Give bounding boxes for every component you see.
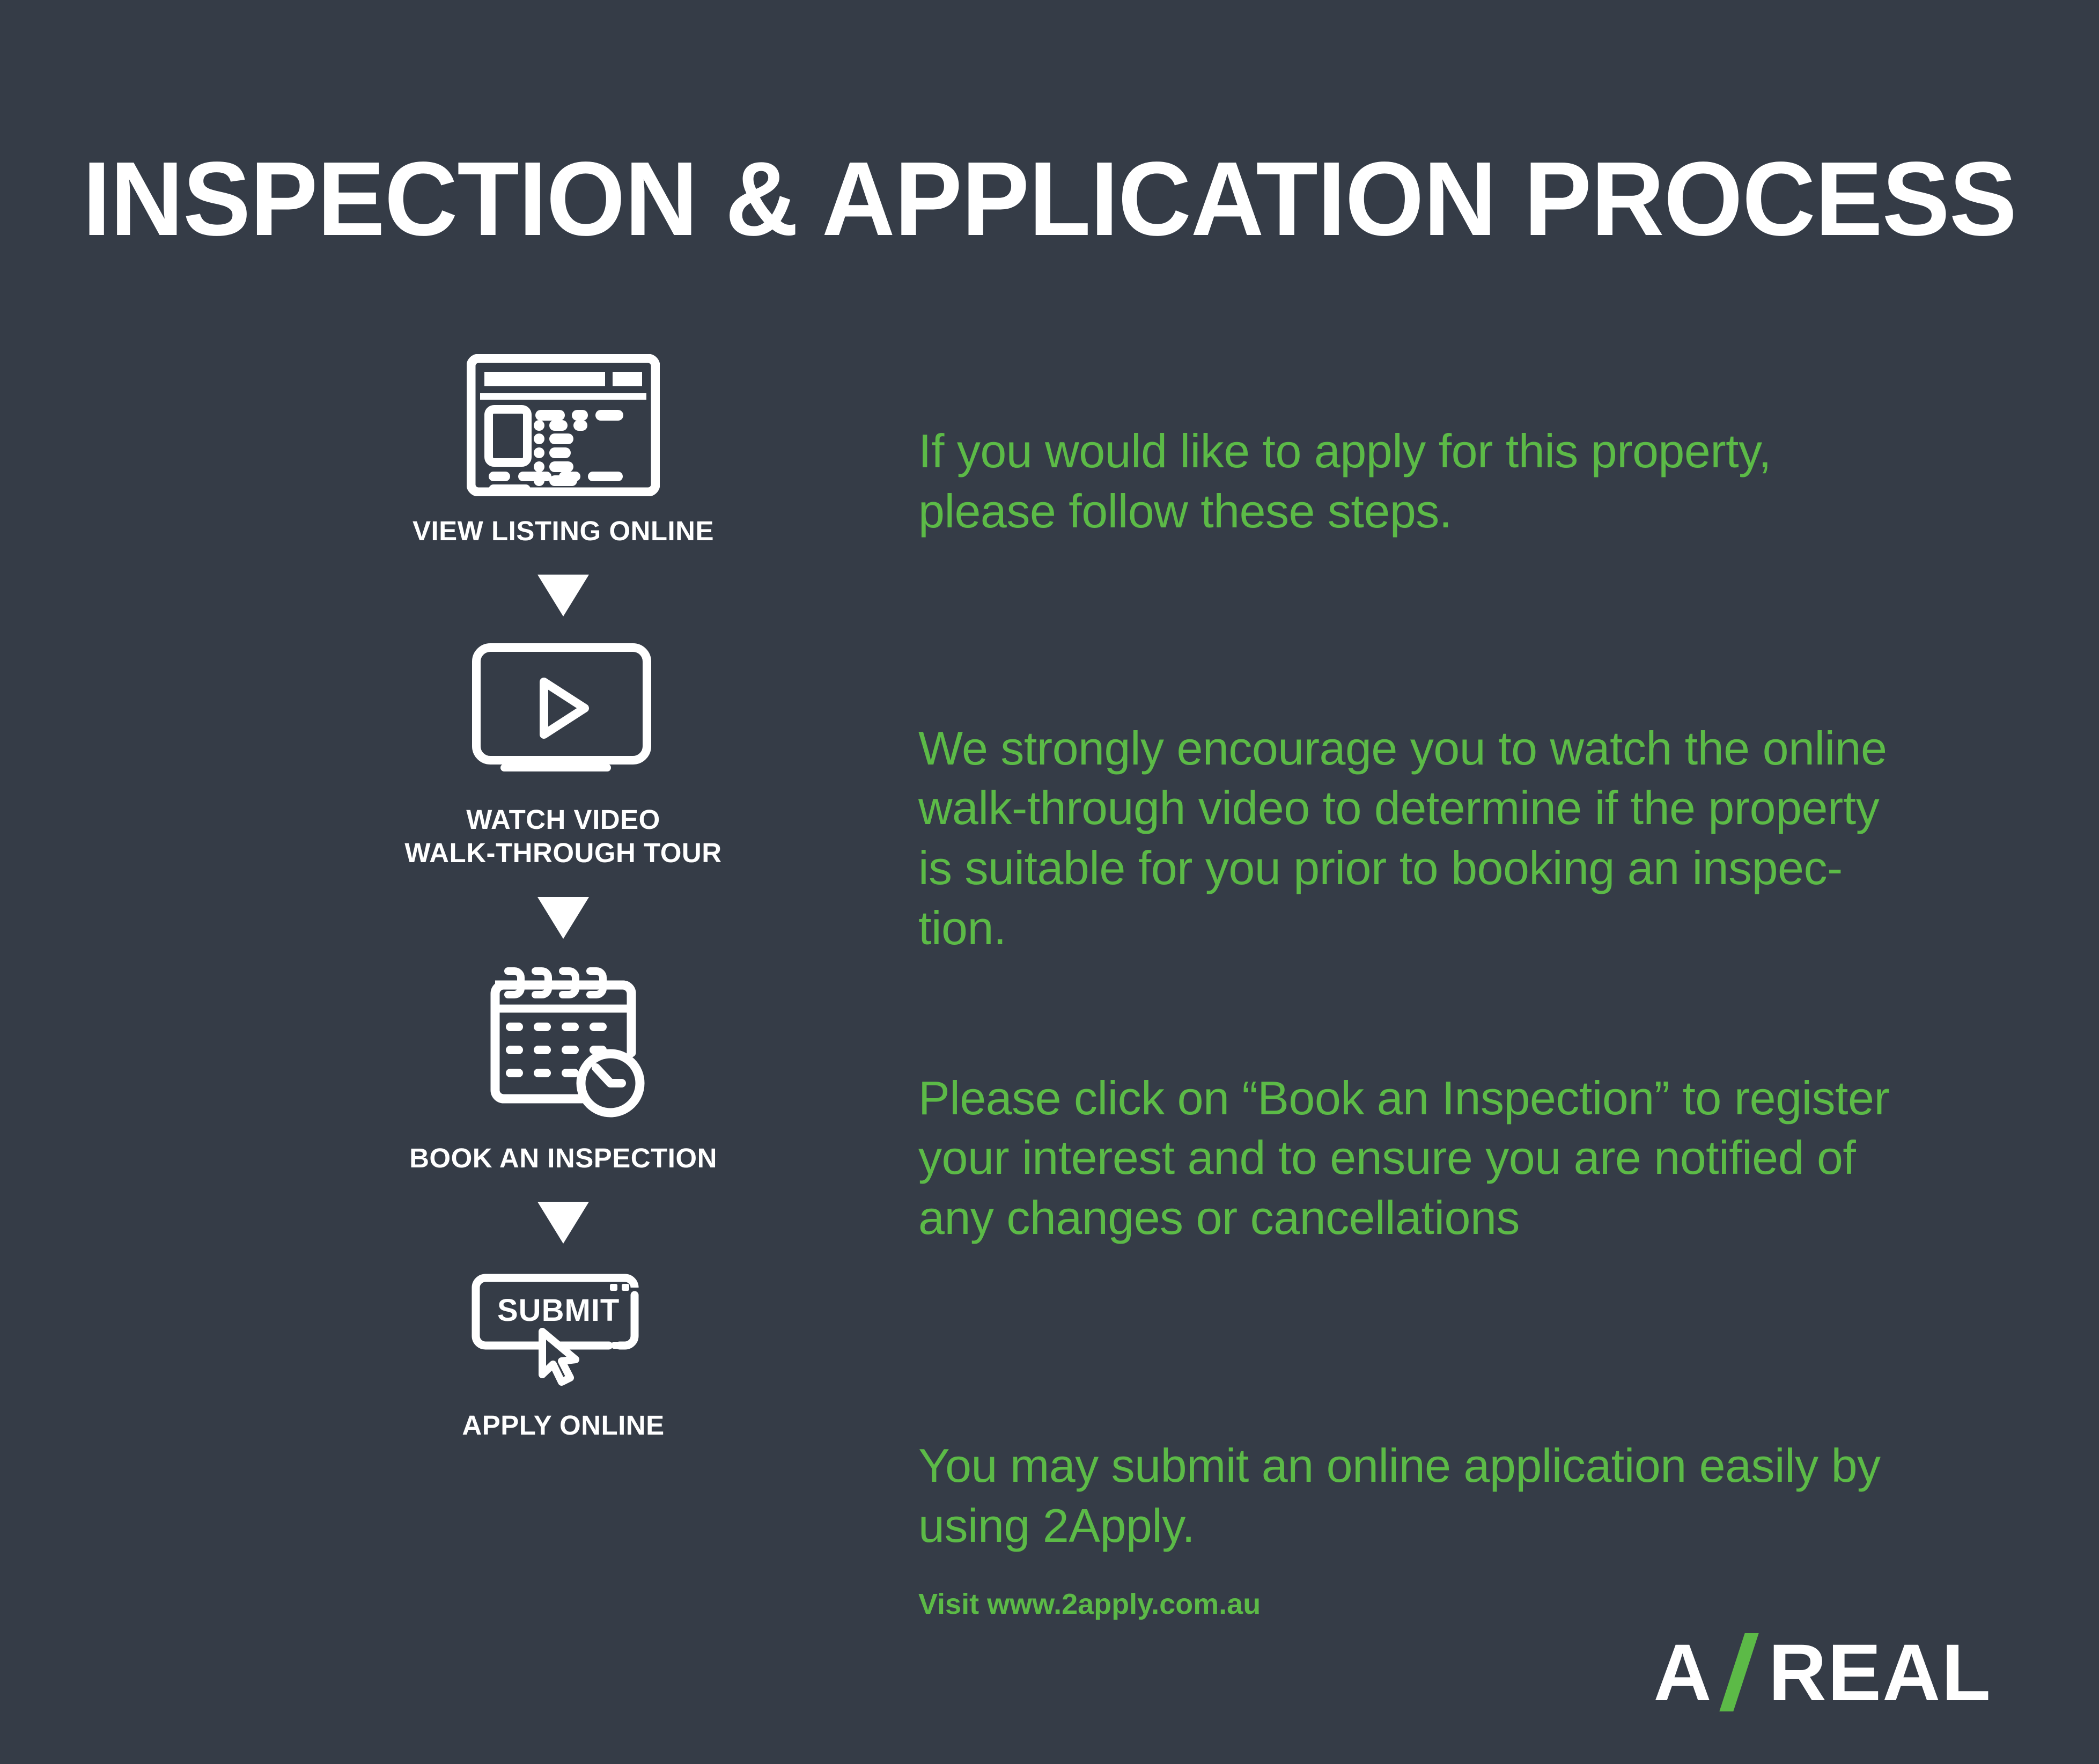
step-book-inspection: BOOK AN INSPECTION (279, 962, 848, 1175)
step-label-view-listing-online: VIEW LISTING ONLINE (413, 514, 714, 548)
copy-book-inspection: Please click on “Book an Inspection” to … (918, 1068, 1900, 1248)
listing-window-icon (467, 354, 660, 496)
step-apply-online: SUBMIT APPLY ONLINE (279, 1267, 848, 1442)
step-view-listing-online: VIEW LISTING ONLINE (279, 354, 848, 548)
step-label-book-inspection: BOOK AN INSPECTION (409, 1142, 717, 1175)
copy-intro: If you would like to apply for this prop… (918, 421, 1900, 541)
flow-arrow-3 (279, 1202, 848, 1244)
copy-watch-video: We strongly encourage you to watch the o… (918, 718, 1900, 958)
copy-apply-online: You may submit an online application eas… (918, 1436, 1900, 1556)
spacer (279, 616, 848, 640)
flow-arrow-1 (279, 575, 848, 616)
submit-icon-label: SUBMIT (497, 1293, 620, 1328)
areal-logo: A REAL (1653, 1632, 1992, 1712)
spacer (279, 870, 848, 897)
process-flow-column: VIEW LISTING ONLINE WATCH VIDEO WALK-THR… (279, 354, 848, 1442)
page-title: INSPECTION & APPLICATION PROCESS (36, 144, 2062, 254)
step-label-apply-online: APPLY ONLINE (462, 1409, 664, 1442)
spacer (279, 939, 848, 962)
poster-root: INSPECTION & APPLICATION PROCESS (0, 0, 2099, 1764)
chevron-down-icon (537, 575, 589, 616)
video-play-icon (469, 640, 658, 785)
logo-letter-a: A (1653, 1632, 1712, 1712)
step-watch-video: WATCH VIDEO WALK-THROUGH TOUR (279, 640, 848, 870)
chevron-down-icon (537, 1202, 589, 1244)
submit-button-cursor-icon: SUBMIT (464, 1267, 662, 1391)
step-label-watch-video: WATCH VIDEO WALK-THROUGH TOUR (404, 803, 721, 870)
flow-arrow-2 (279, 897, 848, 939)
logo-slash-icon (1716, 1632, 1765, 1712)
spacer (279, 1244, 848, 1267)
spacer (279, 1175, 848, 1202)
logo-word-real: REAL (1769, 1632, 1992, 1712)
chevron-down-icon (537, 897, 589, 939)
copy-column: If you would like to apply for this prop… (918, 354, 1900, 1621)
visit-2apply-link[interactable]: Visit www.2apply.com.au (918, 1587, 1900, 1621)
spacer (279, 548, 848, 575)
calendar-clock-icon (475, 962, 652, 1123)
